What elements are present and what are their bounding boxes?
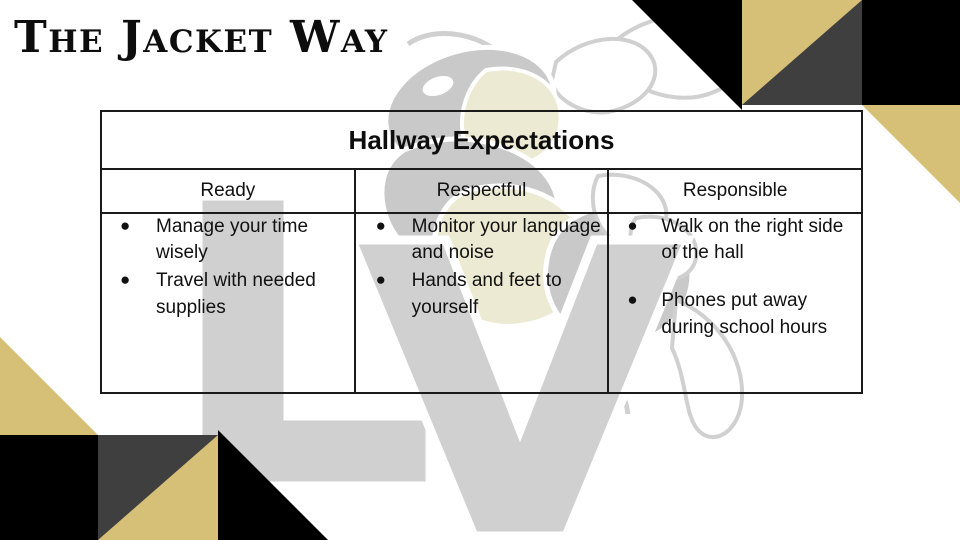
table-caption: Hallway Expectations [101,111,862,169]
list-item: ● Monitor your language and noise [356,214,608,266]
bullet-icon: ● [120,214,130,239]
cell-ready: ● Manage your time wisely ● Travel with … [101,213,355,393]
corner-deco-top-right-gold-triangle [862,105,960,203]
bullet-list-respectful: ● Monitor your language and noise ● Hand… [356,214,608,321]
slide-canvas: The Jacket Way Hallway Expectations Read… [0,0,960,540]
list-item-text: Manage your time wisely [156,214,354,266]
bullet-list-ready: ● Manage your time wisely ● Travel with … [102,214,354,321]
corner-deco-bottom-left-gray-triangle [98,435,218,540]
corner-deco-top-right-black-block [742,0,960,105]
table-title-row: Hallway Expectations [101,111,862,169]
list-item: ● Phones put away during school hours [609,288,861,340]
column-header-respectful: Respectful [355,169,609,213]
corner-deco-top-right-black-triangle [632,0,742,110]
bullet-icon: ● [120,268,130,293]
list-item-text: Travel with needed supplies [156,268,354,320]
hallway-expectations-table: Hallway Expectations Ready Respectful Re… [100,110,863,394]
list-item-text: Phones put away during school hours [661,288,861,340]
bullet-icon: ● [627,214,637,239]
cell-respectful: ● Monitor your language and noise ● Hand… [355,213,609,393]
page-title: The Jacket Way [14,12,389,63]
table-body-row: ● Manage your time wisely ● Travel with … [101,213,862,393]
bullet-list-responsible: ● Walk on the right side of the hall ● P… [609,214,861,341]
corner-deco-bottom-left-gold-triangle [0,337,98,435]
corner-deco-bottom-left-gold-block [98,435,218,540]
column-header-ready: Ready [101,169,355,213]
bullet-icon: ● [376,214,386,239]
list-item-text: Hands and feet to yourself [412,268,608,320]
list-item-text: Monitor your language and noise [412,214,608,266]
bullet-icon: ● [376,268,386,293]
list-item: ● Manage your time wisely [102,214,354,266]
corner-deco-top-right-gray-triangle [742,0,862,105]
corner-deco-bottom-left-black-triangle [218,430,328,540]
list-item: ● Hands and feet to yourself [356,268,608,320]
cell-responsible: ● Walk on the right side of the hall ● P… [608,213,862,393]
column-header-responsible: Responsible [608,169,862,213]
table-header-row: Ready Respectful Responsible [101,169,862,213]
bullet-icon: ● [627,288,637,313]
list-item-text: Walk on the right side of the hall [661,214,861,266]
list-item: ● Travel with needed supplies [102,268,354,320]
list-item: ● Walk on the right side of the hall [609,214,861,266]
corner-deco-top-right-gold-block [742,0,862,105]
corner-deco-bottom-left-black-block [0,435,218,540]
